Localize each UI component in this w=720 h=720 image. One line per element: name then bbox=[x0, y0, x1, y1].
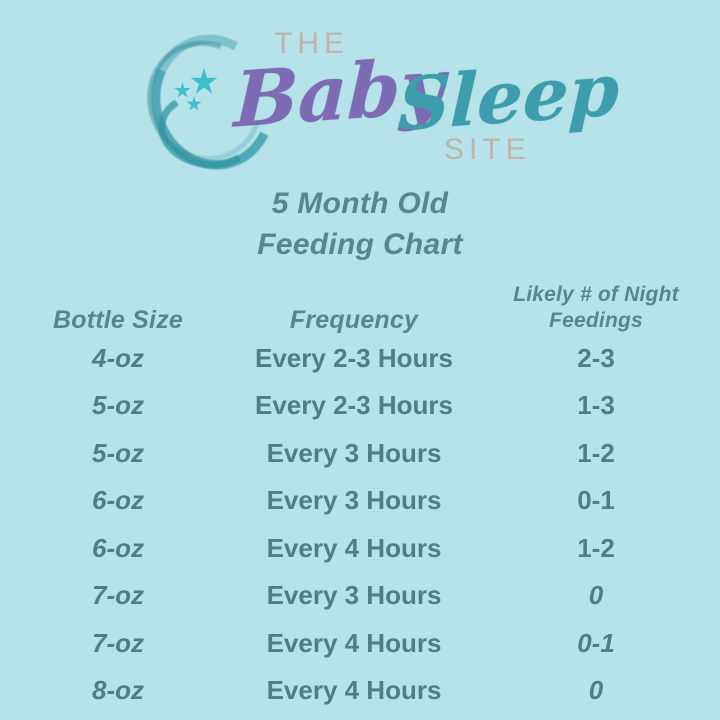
cell-frequency: Every 4 Hours bbox=[236, 675, 472, 705]
logo-inner: THE Baby Sleep SITE bbox=[148, 12, 578, 172]
column-header-night-feedings: Likely # of Night Feedings bbox=[472, 282, 720, 334]
feeding-chart-table: Bottle Size Frequency Likely # of Night … bbox=[0, 276, 720, 714]
cell-night-feedings: 0 bbox=[472, 580, 720, 610]
table-row: 6-oz Every 3 Hours 0-1 bbox=[0, 477, 720, 525]
cell-bottle-size: 4-oz bbox=[0, 343, 236, 373]
cell-night-feedings: 1-2 bbox=[472, 533, 720, 563]
table-row: 5-oz Every 2-3 Hours 1-3 bbox=[0, 382, 720, 430]
page-title-line-1: 5 Month Old bbox=[0, 183, 720, 224]
cell-bottle-size: 5-oz bbox=[0, 390, 236, 420]
table-row: 7-oz Every 3 Hours 0 bbox=[0, 572, 720, 620]
cell-frequency: Every 2-3 Hours bbox=[236, 390, 472, 420]
cell-night-feedings: 0-1 bbox=[472, 628, 720, 658]
table-row: 8-oz Every 4 Hours 0 bbox=[0, 667, 720, 715]
logo-word-sleep: Sleep bbox=[397, 46, 621, 147]
cell-bottle-size: 6-oz bbox=[0, 485, 236, 515]
cell-frequency: Every 4 Hours bbox=[236, 628, 472, 658]
column-header-bottle-size: Bottle Size bbox=[0, 306, 236, 334]
cell-frequency: Every 3 Hours bbox=[236, 485, 472, 515]
cell-bottle-size: 6-oz bbox=[0, 533, 236, 563]
cell-night-feedings: 0-1 bbox=[472, 485, 720, 515]
cell-bottle-size: 7-oz bbox=[0, 580, 236, 610]
cell-bottle-size: 7-oz bbox=[0, 628, 236, 658]
cell-frequency: Every 2-3 Hours bbox=[236, 343, 472, 373]
column-header-frequency: Frequency bbox=[236, 306, 472, 334]
table-row: 7-oz Every 4 Hours 0-1 bbox=[0, 619, 720, 667]
cell-bottle-size: 8-oz bbox=[0, 675, 236, 705]
cell-night-feedings: 1-3 bbox=[472, 390, 720, 420]
cell-night-feedings: 2-3 bbox=[472, 343, 720, 373]
table-header-row: Bottle Size Frequency Likely # of Night … bbox=[0, 276, 720, 334]
cell-night-feedings: 1-2 bbox=[472, 438, 720, 468]
table-row: 6-oz Every 4 Hours 1-2 bbox=[0, 524, 720, 572]
page-title: 5 Month Old Feeding Chart bbox=[0, 183, 720, 265]
cell-frequency: Every 3 Hours bbox=[236, 580, 472, 610]
logo-word-site: SITE bbox=[444, 133, 531, 167]
cell-frequency: Every 3 Hours bbox=[236, 438, 472, 468]
brand-logo: THE Baby Sleep SITE bbox=[0, 0, 720, 178]
page-title-line-2: Feeding Chart bbox=[0, 224, 720, 265]
cell-night-feedings: 0 bbox=[472, 675, 720, 705]
table-row: 4-oz Every 2-3 Hours 2-3 bbox=[0, 334, 720, 382]
table-row: 5-oz Every 3 Hours 1-2 bbox=[0, 429, 720, 477]
cell-bottle-size: 5-oz bbox=[0, 438, 236, 468]
cell-frequency: Every 4 Hours bbox=[236, 533, 472, 563]
